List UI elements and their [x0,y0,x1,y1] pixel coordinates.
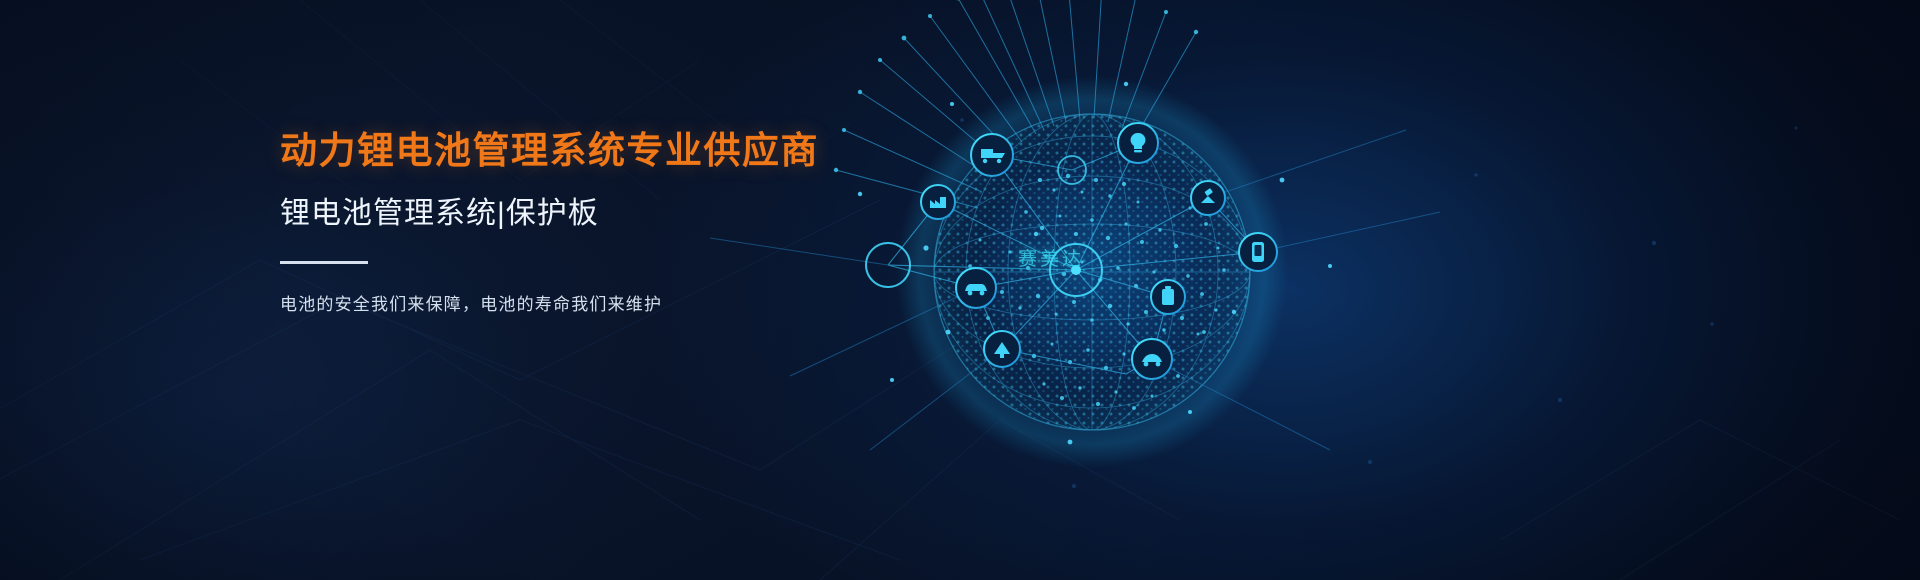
banner-copy-block: 动力锂电池管理系统专业供应商 锂电池管理系统|保护板 电池的安全我们来保障，电池… [280,128,900,315]
lamp-icon [984,331,1020,367]
banner-headline: 动力锂电池管理系统专业供应商 [280,128,900,174]
car-icon [956,268,996,308]
satellite-icon [1191,181,1225,215]
truck-icon [971,134,1013,176]
banner-caption: 电池的安全我们来保障，电池的寿命我们来维护 [280,290,900,315]
hero-banner: 赛美达 动力锂电池管理系统专业供应商 锂电池管理系统|保护板 电池的安全我们来保… [0,0,1920,580]
divider-rule [280,261,368,264]
battery-icon [1151,280,1185,314]
phone-icon [1239,233,1277,271]
factory-icon [921,185,955,219]
network-globe-illustration [830,0,1470,580]
banner-subtitle: 锂电池管理系统|保护板 [280,194,900,233]
lightbulb-icon [1118,123,1158,163]
drone-icon [1132,339,1172,379]
